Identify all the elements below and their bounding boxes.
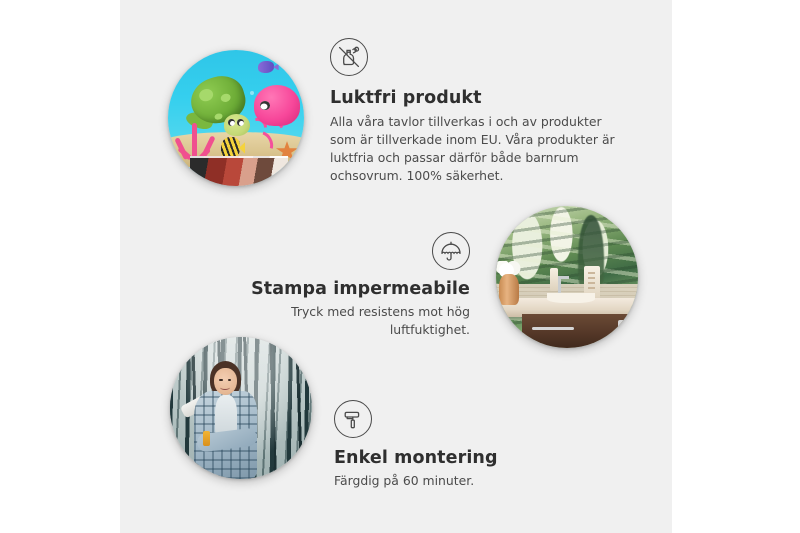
feature-waterproof: Stampa impermeabile Tryck med resistens … [226, 232, 470, 339]
bubble-icon [250, 91, 254, 95]
underwater-cartoon-circle[interactable] [168, 50, 304, 186]
sink-basin [547, 293, 595, 303]
feature-title: Luktfri produkt [330, 88, 630, 108]
roller-grip [203, 431, 210, 447]
paint-roller-icon [334, 400, 372, 438]
no-fragrance-icon [330, 38, 368, 76]
feature-mounting: Enkel montering Färgdig på 60 minuter. [334, 400, 594, 490]
faucet [558, 276, 561, 294]
screenshot-canvas: Luktfri produkt Alla våra tavlor tillver… [0, 0, 800, 533]
coral [179, 123, 212, 158]
umbrella-icon [432, 232, 470, 270]
soap-bottle [550, 268, 559, 291]
face [214, 368, 237, 395]
feature-description: Tryck med resistens mot hög luftfuktighe… [226, 303, 470, 339]
woman-paint-roller-circle[interactable] [170, 337, 312, 479]
photo-strip [190, 156, 288, 186]
feature-description: Färgdig på 60 minuter. [334, 472, 594, 490]
feature-odourless: Luktfri produkt Alla våra tavlor tillver… [330, 38, 630, 185]
purple-fish [258, 61, 274, 73]
feature-title: Stampa impermeabile [226, 279, 470, 299]
copper-vase [499, 274, 519, 305]
feature-description: Alla våra tavlor tillverkas i och av pro… [330, 113, 630, 185]
octopus-body [254, 85, 300, 126]
feature-title: Enkel montering [334, 448, 594, 468]
wood-vanity-cabinet [522, 314, 638, 348]
bathroom-leaf-wallpaper-circle[interactable] [496, 206, 638, 348]
